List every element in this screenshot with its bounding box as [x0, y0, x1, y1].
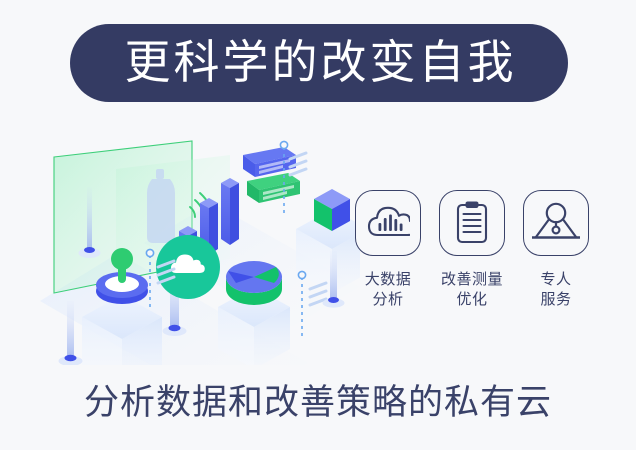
- feature-label-big-data: 大数据 分析: [365, 270, 412, 310]
- feature-item-measurement[interactable]: 改善测量 优化: [436, 190, 508, 310]
- promo-banner: 更科学的改变自我: [0, 0, 636, 450]
- feature-list: 大数据 分析 改善测量 优化: [352, 190, 592, 330]
- feature-item-big-data[interactable]: 大数据 分析: [352, 190, 424, 310]
- page-title: 更科学的改变自我: [122, 39, 517, 85]
- green-label-card: [247, 173, 300, 203]
- isometric-illustration: [40, 125, 360, 365]
- blue-label-card: [243, 147, 296, 177]
- feature-item-service[interactable]: 专人 服务: [520, 190, 592, 310]
- service-person-icon: [523, 190, 589, 256]
- clipboard-icon: [439, 190, 505, 256]
- pie-chart-3d: [226, 261, 282, 305]
- title-banner-pill: 更科学的改变自我: [70, 24, 568, 102]
- feature-label-measurement: 改善测量 优化: [441, 270, 503, 310]
- bottle-silhouette: [147, 169, 175, 243]
- feature-label-service: 专人 服务: [540, 270, 571, 310]
- cloud-bar-chart-icon: [355, 190, 421, 256]
- footer-tagline: 分析数据和改善策略的私有云: [0, 385, 636, 420]
